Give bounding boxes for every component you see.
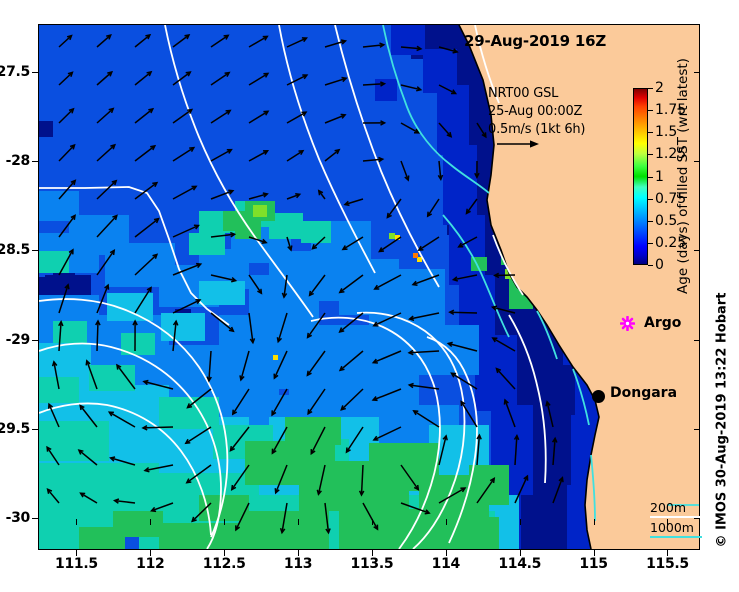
y-tick [32, 340, 38, 341]
annotation-line-1: NRT00 GSL [488, 86, 558, 101]
y-tick-label: -30 [6, 510, 30, 526]
credit-text: © IMOS 30-Aug-2019 13:22 Hobart [715, 293, 730, 548]
y-tick-inner [694, 518, 700, 519]
y-tick [32, 429, 38, 430]
dot-marker-icon [592, 390, 605, 403]
figure-canvas: 29-Aug-2019 16Z NRT00 GSL 25-Aug 00:00Z … [0, 0, 739, 592]
x-tick-inner [446, 519, 447, 525]
y-tick-label: -29.5 [0, 421, 30, 437]
colorbar-tick [648, 154, 653, 155]
colorbar-tick [648, 110, 653, 111]
velocity-arrow [97, 321, 98, 351]
right-arrow-icon [495, 138, 541, 150]
x-tick-inner [372, 519, 373, 525]
y-tick-inner [694, 161, 700, 162]
x-tick-inner [76, 519, 77, 525]
x-tick-label: 114 [432, 556, 460, 572]
depth-key-1000m-line [650, 536, 702, 538]
colorbar-tick [648, 132, 653, 133]
x-tick-inner [150, 519, 151, 525]
y-tick-inner [694, 72, 700, 73]
depth-key: 200m 1000m [650, 500, 702, 538]
velocity-arrow [450, 312, 477, 313]
x-tick-label: 112 [136, 556, 164, 572]
depth-key-200m-label: 200m [650, 500, 702, 515]
map-raster-and-overlays [39, 25, 699, 549]
x-tick-label: 111.5 [55, 556, 98, 572]
colorbar-title: Age (days) of filled SST (wrt latest) [675, 58, 691, 294]
annotation-line-2: 25-Aug 00:00Z [488, 104, 582, 119]
star-marker-icon [620, 316, 635, 331]
x-tick-label: 113.5 [351, 556, 394, 572]
y-tick-label: -28 [6, 153, 30, 169]
x-tick-inner [520, 519, 521, 525]
map-plot-area[interactable] [38, 24, 700, 550]
x-tick-inner [224, 519, 225, 525]
colorbar-tick [648, 221, 653, 222]
colorbar-tick-label: 1.5 [655, 124, 677, 140]
argo-legend-entry: Argo [620, 315, 681, 331]
annotation-line-3: 0.5m/s (1kt 6h) [488, 122, 585, 137]
depth-key-1000m-label: 1000m [650, 520, 702, 535]
x-tick-label: 115.5 [646, 556, 689, 572]
y-tick-label: -29 [6, 332, 30, 348]
colorbar-tick [648, 243, 653, 244]
colorbar-tick-label: 0 [655, 257, 664, 273]
y-tick-label: -27.5 [0, 64, 30, 80]
x-tick-label: 113 [284, 556, 312, 572]
colorbar-tick-label: 0.5 [655, 213, 677, 229]
x-tick-label: 112.5 [203, 556, 246, 572]
y-tick [32, 161, 38, 162]
y-tick-inner [694, 429, 700, 430]
y-tick-label: -28.5 [0, 242, 30, 258]
colorbar-tick [648, 177, 653, 178]
colorbar-tick-label: 1 [655, 169, 664, 185]
plot-title: 29-Aug-2019 16Z [464, 32, 606, 50]
x-tick-inner [298, 519, 299, 525]
argo-label: Argo [644, 315, 681, 331]
y-tick [32, 518, 38, 519]
x-tick-label: 115 [579, 556, 607, 572]
dongara-label: Dongara [610, 385, 677, 401]
x-tick-inner [667, 519, 668, 525]
y-tick [32, 72, 38, 73]
velocity-arrow [495, 275, 515, 276]
velocity-arrow [143, 427, 173, 428]
colorbar-tick-label: 2 [655, 80, 664, 96]
colorbar-tick [648, 265, 653, 266]
colorbar-tick [648, 199, 653, 200]
y-tick-inner [694, 340, 700, 341]
y-tick [32, 250, 38, 251]
x-tick-label: 114.5 [498, 556, 541, 572]
colorbar-tick [648, 88, 653, 89]
x-tick-inner [594, 519, 595, 525]
colorbar[interactable] [633, 88, 648, 265]
y-tick-inner [694, 250, 700, 251]
